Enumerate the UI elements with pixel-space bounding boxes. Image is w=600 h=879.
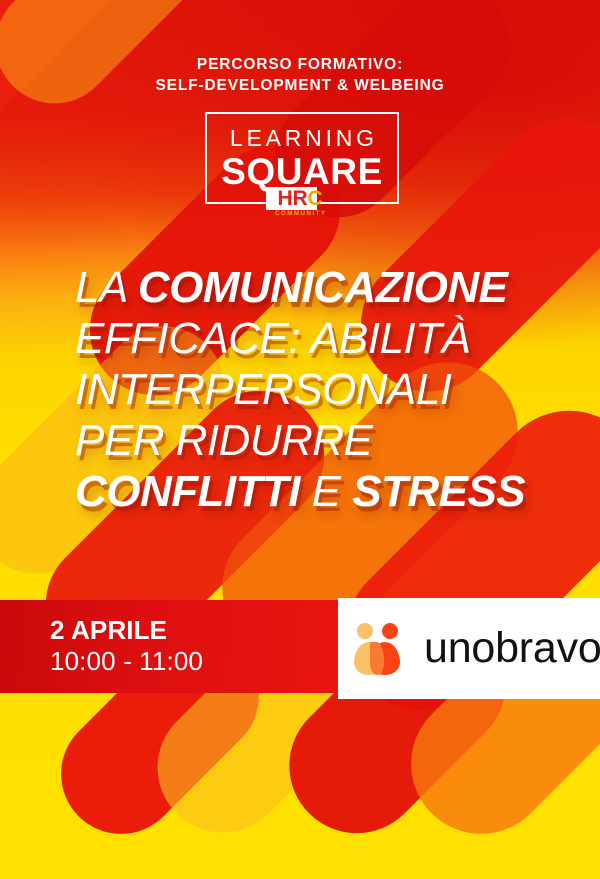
hrc-community-label: COMMUNITY <box>261 211 339 217</box>
unobravo-logo-icon <box>354 623 408 675</box>
hrc-badge-mark: HRC <box>261 187 339 210</box>
eyebrow-line-2: SELF-DEVELOPMENT & WELBEING <box>0 76 600 97</box>
headline-line-3: INTERPERSONALI <box>75 364 560 415</box>
logo-word-square: SQUARE <box>207 153 397 190</box>
headline-line-5: CONFLITTI E STRESS <box>75 466 560 517</box>
schedule-bar: 2 APRILE 10:00 - 11:00 <box>0 600 338 693</box>
headline-e: E <box>300 467 352 516</box>
event-date: 2 APRILE <box>50 617 167 643</box>
eyebrow-text: PERCORSO FORMATIVO: SELF-DEVELOPMENT & W… <box>0 55 600 96</box>
headline-line-2: EFFICACE: ABILITÀ <box>75 313 560 364</box>
hrc-letters-hr: HR <box>278 187 308 210</box>
headline-line-4: PER RIDURRE <box>75 415 560 466</box>
headline-stress: STRESS <box>352 467 525 516</box>
headline-la: LA <box>75 263 138 312</box>
hrc-letters: HRC <box>278 187 323 210</box>
page-title: LA COMUNICAZIONE EFFICACE: ABILITÀ INTER… <box>75 262 560 517</box>
headline-conflitti: CONFLITTI <box>75 467 300 516</box>
headline-line-1: LA COMUNICAZIONE <box>75 262 560 313</box>
sponsor-panel: unobravo <box>338 598 600 699</box>
unobravo-dot-right <box>382 623 398 639</box>
event-time: 10:00 - 11:00 <box>50 648 203 674</box>
eyebrow-line-1: PERCORSO FORMATIVO: <box>0 55 600 76</box>
promo-poster: PERCORSO FORMATIVO: SELF-DEVELOPMENT & W… <box>0 0 600 879</box>
logo-word-learning: LEARNING <box>207 127 397 150</box>
headline-comunicazione: COMUNICAZIONE <box>138 263 508 312</box>
hrc-letter-c: C <box>307 187 322 210</box>
hrc-community-badge: HRC COMMUNITY <box>261 187 339 217</box>
sponsor-name: unobravo <box>424 624 600 673</box>
unobravo-dot-left <box>357 623 373 639</box>
